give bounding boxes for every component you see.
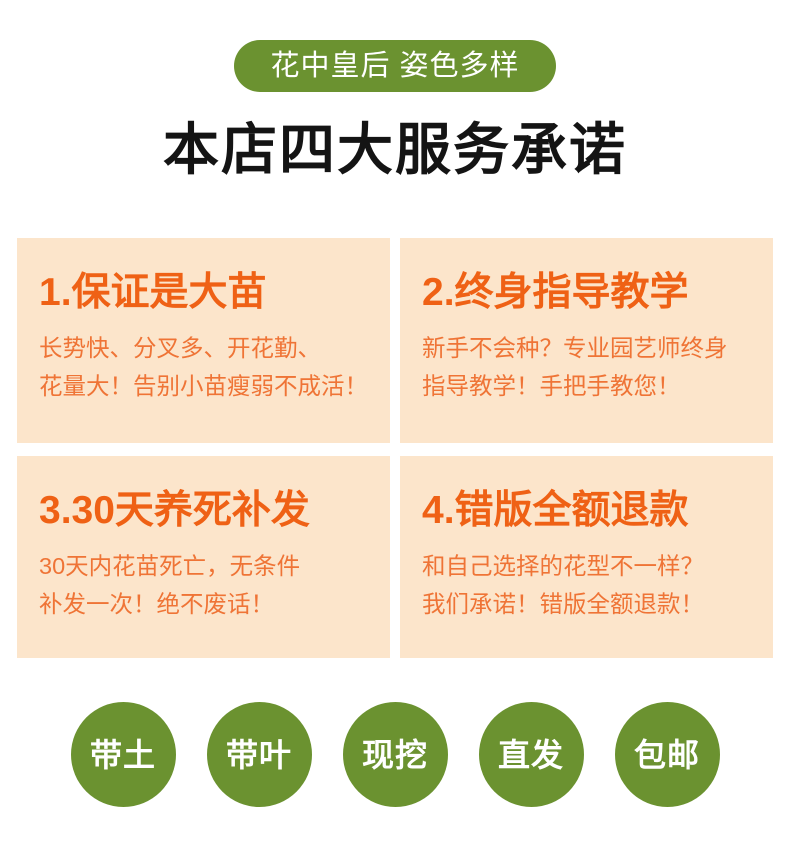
feature-circle-row: 带土 带叶 现挖 直发 包邮 [0,702,790,807]
promise-card-3-heading: 3.30天养死补发 [39,490,368,533]
promise-card-4-body-line-2: 我们承诺！错版全额退款！ [422,585,751,623]
feature-circle-with-leaves: 带叶 [207,702,312,807]
service-promise-grid: 1.保证是大苗 长势快、分叉多、开花勤、 花量大！告别小苗瘦弱不成活！ 2.终身… [17,238,773,658]
promise-card-3-body-line-2: 补发一次！绝不废话！ [39,585,368,623]
feature-circle-fresh-dug: 现挖 [343,702,448,807]
promise-card-1-body-line-2: 花量大！告别小苗瘦弱不成活！ [39,367,368,405]
promo-page: 花中皇后 姿色多样 本店四大服务承诺 1.保证是大苗 长势快、分叉多、开花勤、 … [0,0,790,841]
promise-card-2: 2.终身指导教学 新手不会种？专业园艺师终身 指导教学！手把手教您！ [400,238,773,443]
promise-card-2-heading: 2.终身指导教学 [422,272,751,315]
promise-card-4-body: 和自己选择的花型不一样？ 我们承诺！错版全额退款！ [422,547,751,623]
promise-card-3-body: 30天内花苗死亡，无条件 补发一次！绝不废话！ [39,547,368,623]
promise-card-1-heading: 1.保证是大苗 [39,272,368,315]
promise-card-2-body: 新手不会种？专业园艺师终身 指导教学！手把手教您！ [422,329,751,405]
promise-card-3-body-line-1: 30天内花苗死亡，无条件 [39,547,368,585]
promise-card-2-body-line-2: 指导教学！手把手教您！ [422,367,751,405]
promise-card-4-body-line-1: 和自己选择的花型不一样？ [422,547,751,585]
promise-card-1-body-line-1: 长势快、分叉多、开花勤、 [39,329,368,367]
promise-card-1: 1.保证是大苗 长势快、分叉多、开花勤、 花量大！告别小苗瘦弱不成活！ [17,238,390,443]
promise-card-4: 4.错版全额退款 和自己选择的花型不一样？ 我们承诺！错版全额退款！ [400,456,773,658]
feature-circle-direct-ship: 直发 [479,702,584,807]
feature-circle-free-shipping: 包邮 [615,702,720,807]
badge-row: 花中皇后 姿色多样 [0,40,790,92]
feature-circle-with-soil: 带土 [71,702,176,807]
page-title: 本店四大服务承诺 [0,118,790,182]
promise-card-3: 3.30天养死补发 30天内花苗死亡，无条件 补发一次！绝不废话！ [17,456,390,658]
headline-badge: 花中皇后 姿色多样 [234,40,556,92]
promise-card-1-body: 长势快、分叉多、开花勤、 花量大！告别小苗瘦弱不成活！ [39,329,368,405]
promise-card-4-heading: 4.错版全额退款 [422,490,751,533]
promise-card-2-body-line-1: 新手不会种？专业园艺师终身 [422,329,751,367]
